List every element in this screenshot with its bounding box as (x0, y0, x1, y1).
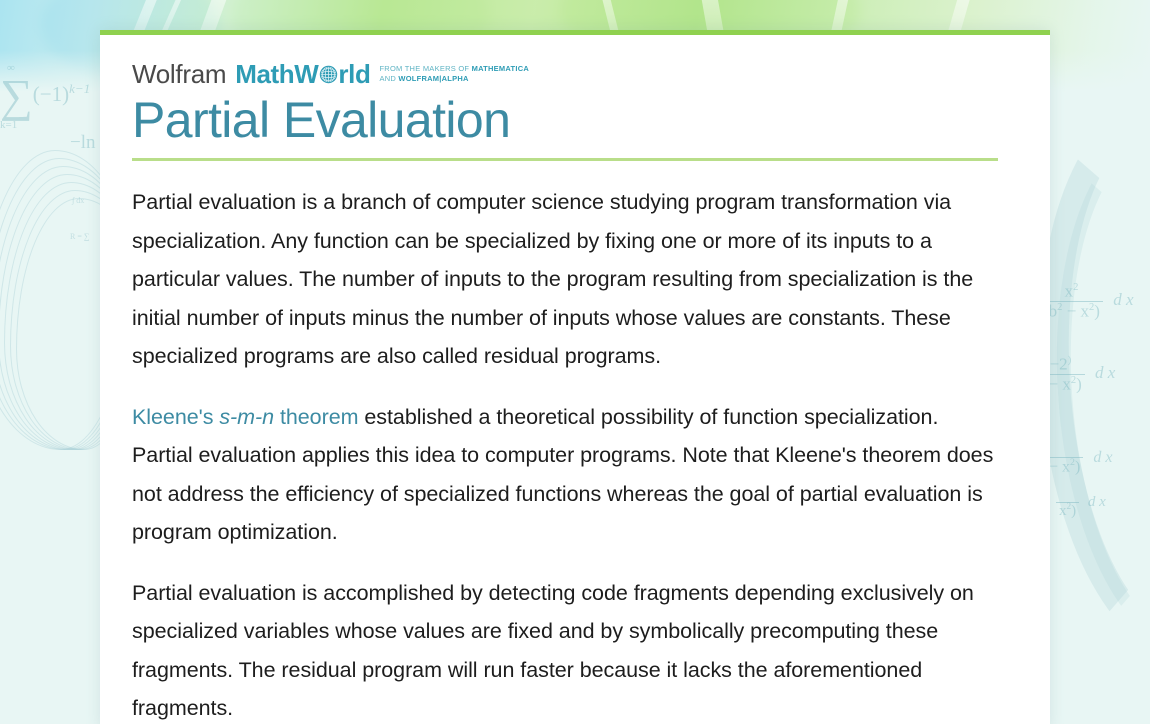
differential: d x (1095, 363, 1115, 382)
differential: d x (1113, 290, 1133, 309)
fraction: − x2) (1046, 440, 1083, 476)
site-logo[interactable]: Wolfram MathW (132, 61, 998, 87)
paragraph-2: Kleene's s-m-n theorem established a the… (132, 398, 998, 552)
fraction-numerator (1046, 440, 1083, 457)
sum-symbol: ∑ (0, 78, 33, 115)
formula-body: (−1) (33, 82, 69, 106)
background-formula-left-second-line: −ln (70, 132, 96, 154)
fraction-numerator (1056, 486, 1079, 502)
sum-lower-limit: k=1 (0, 119, 17, 131)
link-suffix: theorem (274, 405, 358, 429)
globe-icon (319, 65, 338, 84)
differential: d x (1093, 449, 1112, 466)
article-body: Partial evaluation is a branch of comput… (132, 161, 998, 724)
article-card: Wolfram MathW (100, 30, 1050, 724)
background-formula-scribble: ∫ dx (72, 196, 84, 205)
background-formula-left: ∑ ∞ k=1 (−1)k−1 (0, 78, 90, 115)
link-prefix: Kleene's (132, 405, 219, 429)
fraction: x2) (1056, 486, 1079, 520)
background-formula-right: − x2) d x (1046, 440, 1112, 476)
paragraph-3: Partial evaluation is accomplished by de… (132, 574, 998, 724)
background-formula-right: x2) d x (1056, 486, 1106, 520)
background-formula-right: x2 (b2 − x2) d x (1040, 282, 1134, 320)
page-title: Partial Evaluation (132, 93, 998, 154)
tagline-line-2: AND WOLFRAM|ALPHA (379, 74, 468, 83)
differential: d x (1088, 494, 1106, 510)
link-italic-smn: s-m-n (219, 405, 274, 429)
logo-w-text: W (294, 61, 318, 87)
logo-math-text: Math (235, 61, 294, 87)
logo-mathworld-text: MathW rld (235, 61, 370, 87)
sum-upper-limit: ∞ (7, 62, 15, 74)
paragraph-1: Partial evaluation is a branch of comput… (132, 183, 998, 376)
fraction-denominator: x2) (1056, 502, 1079, 520)
logo-wolfram-text: Wolfram (132, 61, 226, 87)
background-formula-scribble: R = ∑ (70, 232, 90, 241)
logo-rld-text: rld (338, 61, 370, 87)
logo-tagline: FROM THE MAKERS OF MATHEMATICA AND WOLFR… (379, 64, 529, 87)
fraction-denominator: − x2) (1046, 457, 1083, 476)
kleene-smn-theorem-link[interactable]: Kleene's s-m-n theorem (132, 405, 358, 429)
formula-exponent: k−1 (69, 81, 90, 96)
tagline-line-1: FROM THE MAKERS OF MATHEMATICA (379, 64, 529, 73)
